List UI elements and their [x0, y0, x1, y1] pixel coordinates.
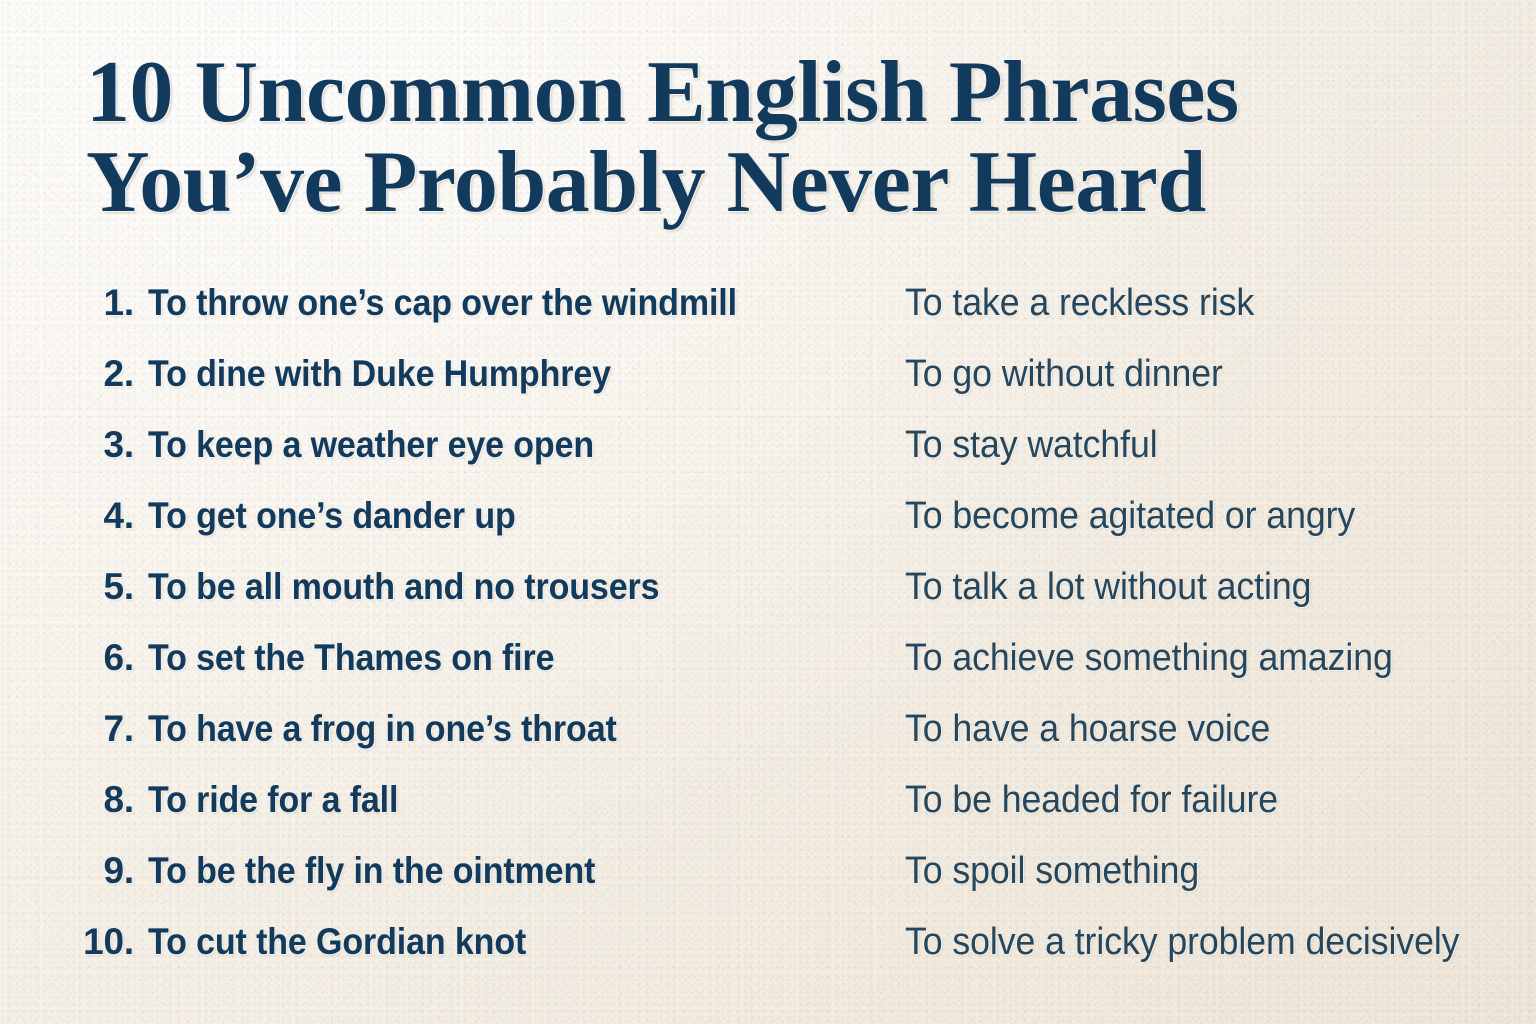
list-item-meaning: To be headed for failure	[905, 775, 1278, 825]
list-item-phrase: To ride for a fall	[148, 775, 398, 825]
list-item-meaning: To stay watchful	[905, 420, 1158, 470]
list-item-phrase: To cut the Gordian knot	[148, 917, 526, 967]
page-title-line-2: You’ve Probably Never Heard	[86, 138, 1426, 228]
list-item: 7.To have a frog in one’s throatTo have …	[0, 704, 1536, 775]
list-item-phrase: To have a frog in one’s throat	[148, 704, 617, 754]
list-item-meaning: To go without dinner	[905, 349, 1223, 399]
list-item-number: 7.	[72, 704, 134, 754]
list-item-phrase: To get one’s dander up	[148, 491, 516, 541]
list-item-number: 9.	[72, 846, 134, 896]
list-item: 8.To ride for a fallTo be headed for fai…	[0, 775, 1536, 846]
list-item-number: 8.	[72, 775, 134, 825]
list-item-number: 4.	[72, 491, 134, 541]
page-title: 10 Uncommon English Phrases You’ve Proba…	[86, 48, 1426, 228]
list-item-number: 3.	[72, 420, 134, 470]
list-item-meaning: To have a hoarse voice	[905, 704, 1270, 754]
list-item-phrase: To keep a weather eye open	[148, 420, 594, 470]
list-item: 6.To set the Thames on fireTo achieve so…	[0, 633, 1536, 704]
list-item-meaning: To talk a lot without acting	[905, 562, 1311, 612]
page-title-line-1: 10 Uncommon English Phrases	[86, 48, 1426, 138]
list-item-meaning: To achieve something amazing	[905, 633, 1393, 683]
list-item-meaning: To spoil something	[905, 846, 1199, 896]
list-item-meaning: To become agitated or angry	[905, 491, 1355, 541]
list-item-phrase: To dine with Duke Humphrey	[148, 349, 611, 399]
list-item: 9.To be the fly in the ointmentTo spoil …	[0, 846, 1536, 917]
phrase-list: 1.To throw one’s cap over the windmillTo…	[0, 278, 1536, 988]
list-item: 4.To get one’s dander upTo become agitat…	[0, 491, 1536, 562]
list-item-phrase: To be the fly in the ointment	[148, 846, 595, 896]
list-item: 2.To dine with Duke HumphreyTo go withou…	[0, 349, 1536, 420]
list-item-number: 5.	[72, 562, 134, 612]
list-item: 10.To cut the Gordian knotTo solve a tri…	[0, 917, 1536, 988]
list-item: 1.To throw one’s cap over the windmillTo…	[0, 278, 1536, 349]
list-item-number: 1.	[72, 278, 134, 328]
list-item: 3.To keep a weather eye openTo stay watc…	[0, 420, 1536, 491]
list-item-number: 10.	[72, 917, 134, 967]
poster-canvas: 10 Uncommon English Phrases You’ve Proba…	[0, 0, 1536, 1024]
list-item-phrase: To throw one’s cap over the windmill	[148, 278, 737, 328]
list-item-phrase: To set the Thames on fire	[148, 633, 554, 683]
list-item-phrase: To be all mouth and no trousers	[148, 562, 659, 612]
list-item-meaning: To solve a tricky problem decisively	[905, 917, 1459, 967]
list-item-number: 2.	[72, 349, 134, 399]
list-item-meaning: To take a reckless risk	[905, 278, 1254, 328]
list-item-number: 6.	[72, 633, 134, 683]
list-item: 5.To be all mouth and no trousersTo talk…	[0, 562, 1536, 633]
